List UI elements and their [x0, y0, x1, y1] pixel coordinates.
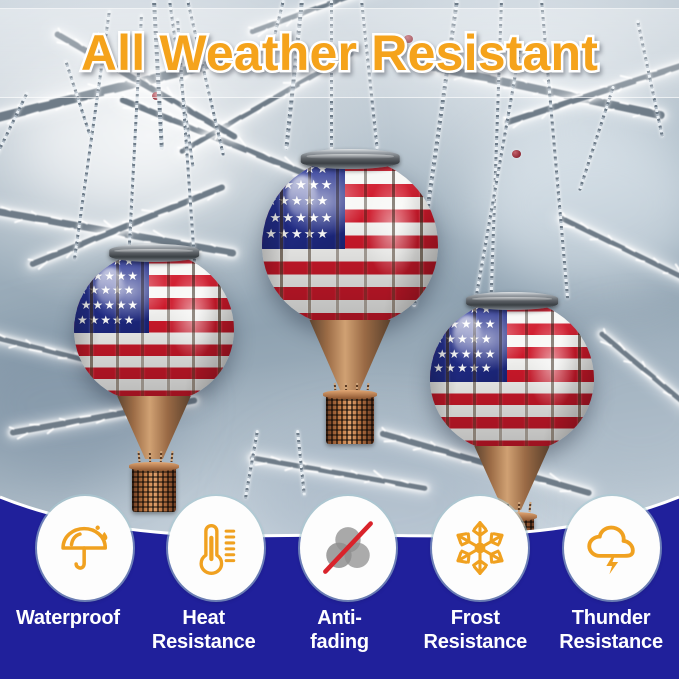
- feature-label-line1: Thunder: [543, 606, 679, 630]
- balloon-globe: ★★★★★★★★★★★★★★★★★★★★★★★★★: [74, 252, 234, 402]
- flag-star: ★: [127, 299, 138, 311]
- feature-label-row: Waterproof Heat Resistance Anti- fading …: [0, 606, 679, 655]
- balloon-rib: [141, 252, 144, 402]
- flag-star: ★: [321, 211, 333, 224]
- balloon-rib: [90, 252, 93, 402]
- basket-chain: [367, 382, 370, 390]
- basket-chain: [160, 451, 162, 462]
- balloon-rib: [392, 158, 395, 326]
- frost-needle: [523, 110, 534, 114]
- flag-star: ★: [265, 162, 277, 175]
- lantern-top-cap: [466, 292, 558, 309]
- basket-chain: [345, 383, 347, 390]
- product-feature-image: ★★★★★★★★★★★★★★★★★★★★★★★★★★★★★★★★★★★★★★★★…: [0, 0, 679, 679]
- balloon-cone: [117, 396, 191, 459]
- feature-label-line1: Heat: [136, 606, 272, 630]
- globe-gloss: [96, 267, 123, 306]
- flag-star: ★: [265, 227, 277, 240]
- frost-needle: [663, 272, 669, 274]
- flag-star: ★: [317, 227, 329, 240]
- flag-star: ★: [485, 318, 496, 330]
- frost-needle: [221, 121, 228, 124]
- lantern-top-cap: [109, 244, 199, 261]
- balloon-rib: [336, 158, 339, 326]
- flag-star: ★: [124, 284, 135, 296]
- feature-label-3: Anti- fading: [272, 606, 408, 655]
- feature-panel: Waterproof Heat Resistance Anti- fading …: [0, 484, 679, 679]
- feature-label-4: Frost Resistance: [407, 606, 543, 655]
- flag-star: ★: [485, 348, 496, 360]
- balloon-rib: [364, 158, 367, 326]
- flag-star: ★: [481, 333, 492, 345]
- balloon-rib: [192, 252, 195, 402]
- balloon-rib: [499, 300, 502, 452]
- flag-star: ★: [77, 314, 88, 326]
- thermometer-icon: [189, 521, 243, 575]
- lantern-basket: [326, 394, 374, 444]
- flag-star: ★: [457, 303, 468, 315]
- flag-star: ★: [457, 362, 468, 374]
- flag-star: ★: [481, 362, 492, 374]
- flag-star: ★: [265, 194, 277, 207]
- balloon-rib: [578, 300, 581, 452]
- balloon-rib: [525, 300, 528, 452]
- feature-label-line2: fading: [272, 630, 408, 654]
- snowflake-icon: [451, 519, 509, 577]
- cloud-lightning-icon: [584, 520, 640, 576]
- flag-star: ★: [124, 314, 135, 326]
- frost-needle: [169, 201, 178, 205]
- flag-star: ★: [291, 162, 303, 175]
- flag-star: ★: [321, 178, 333, 191]
- flag-star: ★: [100, 314, 111, 326]
- basket-chain: [149, 451, 151, 462]
- balloon-lantern: ★★★★★★★★★★★★★★★★★★★★★★★★★: [74, 252, 234, 518]
- berry: [512, 150, 521, 158]
- balloon-globe: ★★★★★★★★★★★★★★★★★★★★★★★★★: [430, 300, 594, 452]
- page-title: All Weather Resistant: [81, 24, 598, 82]
- feature-label-line1: Frost: [407, 606, 543, 630]
- feature-label-2: Heat Resistance: [136, 606, 272, 655]
- basket-chain: [137, 451, 140, 462]
- flag-star: ★: [127, 270, 138, 282]
- basket-chain: [170, 451, 173, 462]
- frost-needle: [177, 147, 183, 149]
- feature-label-line1: Anti-: [272, 606, 408, 630]
- globe-gloss: [453, 315, 481, 355]
- feature-icon-row: [0, 496, 679, 600]
- frost-needle: [144, 241, 151, 243]
- balloon-cone: [310, 320, 391, 391]
- flag-star: ★: [291, 227, 303, 240]
- frost-needle: [180, 239, 190, 243]
- feature-circle-3[interactable]: [300, 496, 396, 600]
- feature-circle-5[interactable]: [564, 496, 660, 600]
- frost-needle: [59, 417, 66, 421]
- frost-needle: [29, 424, 40, 426]
- flag-star: ★: [317, 194, 329, 207]
- basket-chain: [334, 382, 337, 390]
- flag-star: ★: [100, 255, 111, 267]
- anti-fading-icon: [319, 519, 377, 577]
- balloon-lantern: ★★★★★★★★★★★★★★★★★★★★★★★★★: [262, 158, 438, 446]
- globe-gloss: [287, 175, 317, 219]
- balloon-rib: [280, 158, 283, 326]
- balloon-rib: [420, 158, 423, 326]
- frost-needle: [58, 357, 68, 359]
- basket-rim: [323, 390, 377, 399]
- us-flag-pattern: ★★★★★★★★★★★★★★★★★★★★★★★★★: [262, 158, 438, 326]
- balloon-rib: [218, 252, 221, 402]
- feature-circle-2[interactable]: [168, 496, 264, 600]
- umbrella-rain-icon: [58, 521, 112, 575]
- balloon-rib: [446, 300, 449, 452]
- balloon-globe: ★★★★★★★★★★★★★★★★★★★★★★★★★: [262, 158, 438, 326]
- lantern-top-cap: [301, 149, 400, 168]
- basket-chain: [356, 383, 358, 391]
- feature-circle-4[interactable]: [432, 496, 528, 600]
- feature-label-1: Waterproof: [0, 606, 136, 655]
- feature-label-line1: Waterproof: [0, 606, 136, 630]
- flag-star: ★: [77, 255, 88, 267]
- basket-rim: [129, 462, 179, 471]
- headline-banner: All Weather Resistant: [0, 8, 679, 98]
- balloon-rib: [167, 252, 170, 402]
- feature-label-line2: Resistance: [543, 630, 679, 654]
- feature-label-5: Thunder Resistance: [543, 606, 679, 655]
- flag-star: ★: [77, 284, 88, 296]
- feature-label-line2: Resistance: [136, 630, 272, 654]
- frost-needle: [226, 146, 232, 148]
- balloon-rib: [551, 300, 554, 452]
- feature-circle-1[interactable]: [37, 496, 133, 600]
- feature-label-line2: Resistance: [407, 630, 543, 654]
